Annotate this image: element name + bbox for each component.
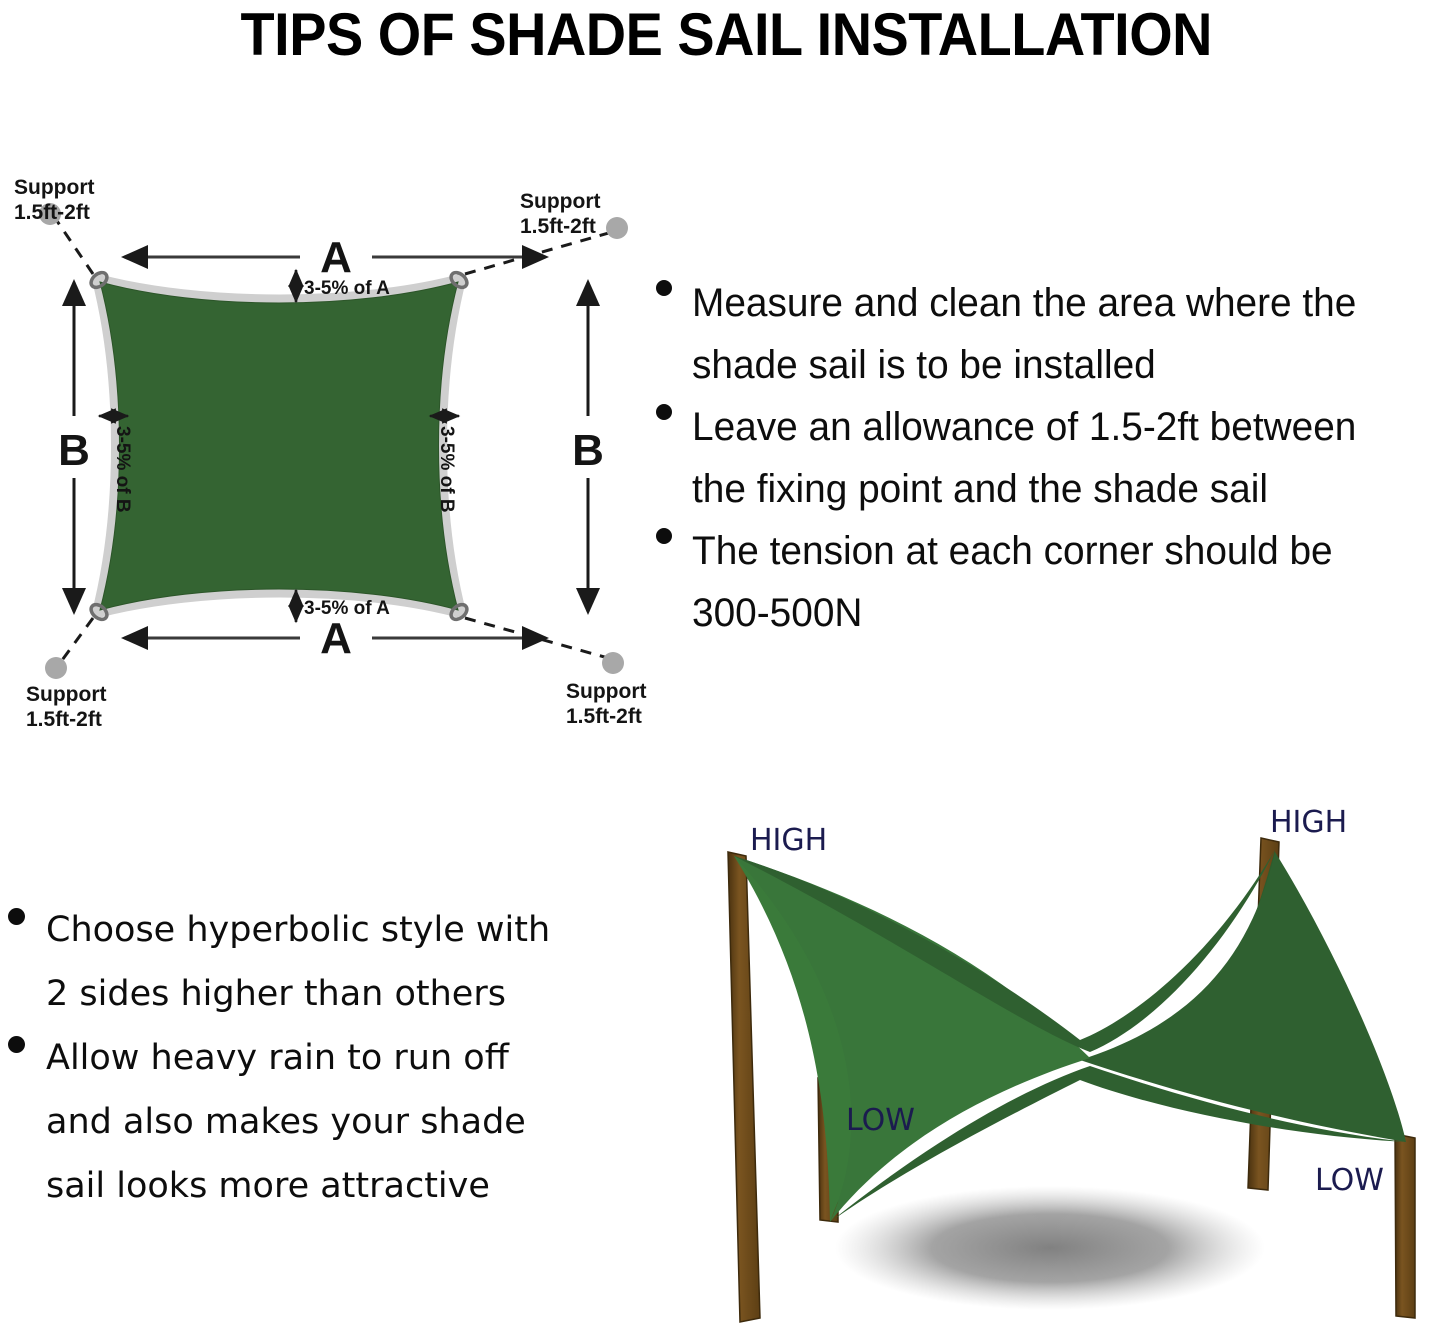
dimension-a-top: A — [124, 233, 546, 282]
tether-line — [55, 218, 93, 274]
shade-sail-shape — [100, 282, 458, 610]
callout-bottom-curve-label: 3-5% of A — [304, 598, 390, 619]
hyperbolic-shade-sail-illustration: HIGH HIGH LOW LOW — [690, 790, 1452, 1325]
callout-top-curve-label: 3-5% of A — [304, 278, 390, 299]
support-label-bottom-right: Support 1.5ft-2ft — [566, 680, 646, 728]
dimension-b-right-label: B — [572, 426, 604, 475]
svg-text:Support: Support — [520, 190, 600, 213]
support-label-top-right: Support 1.5ft-2ft — [520, 190, 600, 238]
bullet-point-icon — [656, 280, 672, 296]
support-dot — [45, 657, 67, 679]
bullet-point-icon — [656, 404, 672, 420]
svg-text:Support: Support — [14, 176, 94, 199]
list-item: The tension at each corner should be 300… — [648, 520, 1452, 644]
list-item-text: Allow heavy rain to run off and also mak… — [46, 1026, 640, 1218]
ground-shadow — [835, 1186, 1265, 1310]
svg-text:1.5ft-2ft: 1.5ft-2ft — [26, 708, 102, 731]
callout-right-curve-label: 3-5% of B — [436, 426, 457, 513]
list-item: Allow heavy rain to run off and also mak… — [0, 1026, 640, 1218]
post-front-right — [1395, 1134, 1415, 1318]
installation-tips-list-bottom: Choose hyperbolic style with 2 sides hig… — [0, 898, 640, 1218]
support-dot — [602, 652, 624, 674]
shade-sail-dimension-diagram: A A B B 3-5% of A 3-5% of A — [0, 160, 660, 740]
svg-text:1.5ft-2ft: 1.5ft-2ft — [14, 201, 90, 224]
bullet-point-icon — [8, 1036, 25, 1053]
list-item: Leave an allowance of 1.5-2ft between th… — [648, 396, 1452, 520]
support-dot — [606, 217, 628, 239]
title-bar: TIPS OF SHADE SAIL INSTALLATION — [0, 0, 1452, 70]
svg-text:1.5ft-2ft: 1.5ft-2ft — [566, 705, 642, 728]
tether-line — [60, 618, 93, 663]
list-item-text: The tension at each corner should be 300… — [692, 520, 1429, 644]
callout-left-curve-label: 3-5% of B — [112, 426, 133, 513]
dimension-b-left-label: B — [58, 426, 90, 475]
post-label-high-right: HIGH — [1270, 805, 1347, 840]
dimension-b-left: B — [58, 282, 90, 612]
installation-tips-list-right: Measure and clean the area where the sha… — [648, 272, 1452, 644]
svg-text:Support: Support — [26, 683, 106, 706]
post-back-left — [728, 852, 760, 1322]
bullet-point-icon — [8, 908, 25, 925]
tether-line — [465, 232, 612, 274]
list-item-text: Measure and clean the area where the sha… — [692, 272, 1429, 396]
list-item: Measure and clean the area where the sha… — [648, 272, 1452, 396]
bullet-point-icon — [656, 528, 672, 544]
post-label-high-left: HIGH — [750, 823, 827, 858]
svg-text:Support: Support — [566, 680, 646, 703]
svg-text:1.5ft-2ft: 1.5ft-2ft — [520, 215, 596, 238]
post-label-low-left: LOW — [846, 1103, 915, 1138]
dimension-a-bottom-label: A — [320, 614, 352, 663]
list-item-text: Leave an allowance of 1.5-2ft between th… — [692, 396, 1429, 520]
support-label-top-left: Support 1.5ft-2ft — [14, 176, 94, 224]
page-title: TIPS OF SHADE SAIL INSTALLATION — [240, 4, 1211, 66]
list-item-text: Choose hyperbolic style with 2 sides hig… — [46, 898, 640, 1026]
callout-left-curve: 3-5% of B — [99, 416, 133, 513]
dimension-a-bottom: A — [124, 614, 546, 663]
dimension-a-top-label: A — [320, 233, 352, 282]
dimension-b-right: B — [572, 282, 604, 612]
sail-panel-back-lower — [1080, 852, 1406, 1142]
support-label-bottom-left: Support 1.5ft-2ft — [26, 683, 106, 731]
post-label-low-right: LOW — [1315, 1163, 1384, 1198]
list-item: Choose hyperbolic style with 2 sides hig… — [0, 898, 640, 1026]
